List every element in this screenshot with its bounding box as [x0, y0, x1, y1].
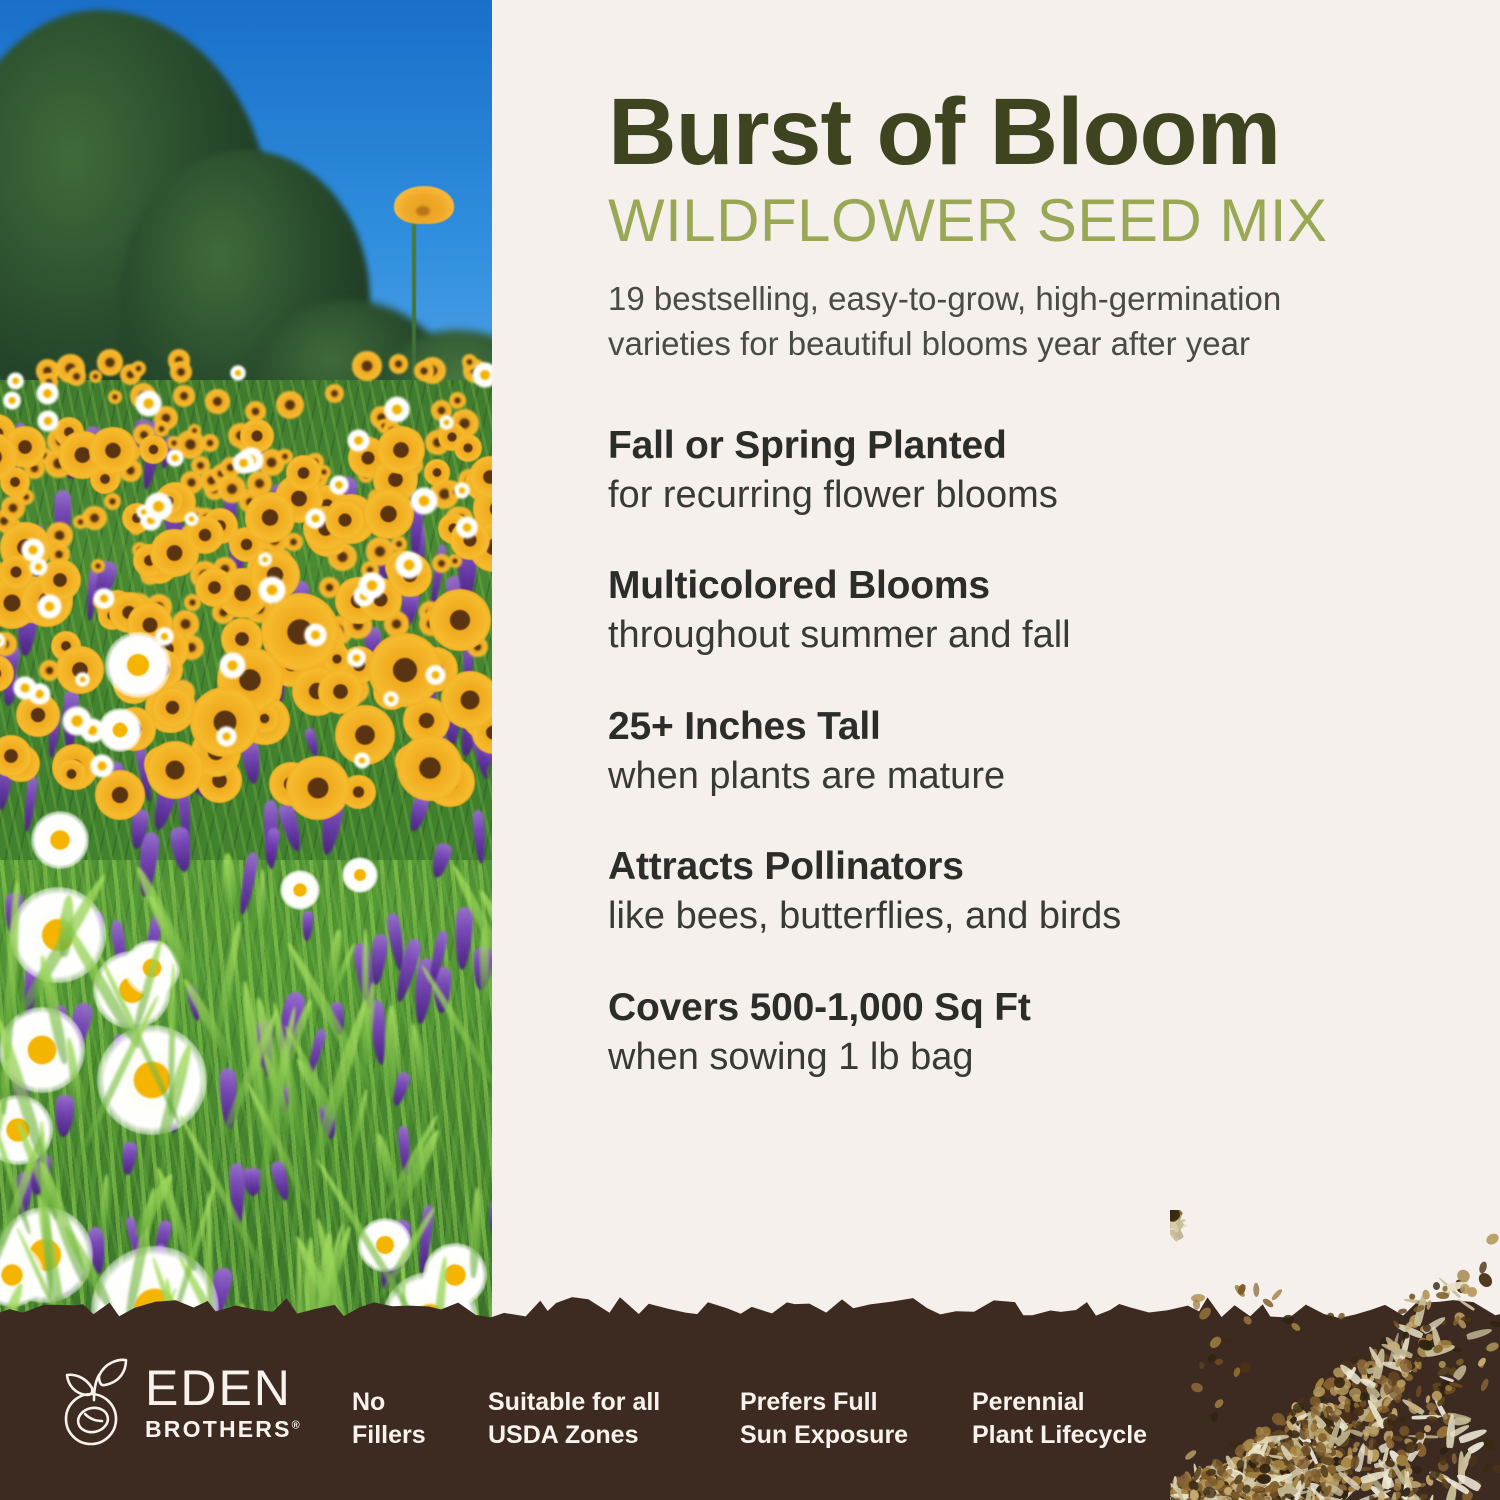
meadow-flower	[7, 372, 25, 390]
foliage-blade	[238, 980, 274, 1162]
seed	[1170, 1210, 1183, 1222]
meadow-flower	[197, 508, 216, 527]
purple-salvia	[304, 1028, 327, 1077]
foliage-blade	[283, 1024, 339, 1117]
meadow-flower	[21, 575, 73, 627]
meadow-flower	[483, 540, 492, 567]
meadow-flower	[280, 870, 320, 910]
purple-salvia	[1, 645, 20, 687]
meadow-flower	[329, 475, 350, 496]
meadow-flower	[269, 659, 288, 678]
purple-salvia	[374, 541, 395, 582]
foliage-blade	[479, 926, 489, 1005]
meadow-flower	[245, 401, 266, 422]
feature-subtitle: throughout summer and fall	[608, 612, 1468, 660]
meadow-flower	[308, 608, 328, 628]
meadow-flower	[156, 630, 179, 653]
purple-salvia	[110, 919, 130, 985]
purple-salvia	[318, 1104, 338, 1141]
purple-salvia	[432, 715, 453, 775]
meadow-flower	[0, 1207, 93, 1303]
foliage-blade	[324, 928, 343, 989]
meadow-flower	[400, 453, 423, 476]
meadow-flower	[450, 520, 490, 560]
purple-salvia	[137, 626, 161, 688]
meadow-flower	[241, 666, 269, 694]
meadow-flower	[448, 616, 476, 644]
foliage-blade	[327, 943, 357, 1002]
purple-salvia	[273, 992, 305, 1051]
purple-salvia	[330, 1001, 346, 1035]
foliage-blade	[131, 939, 164, 1032]
meadow-flower	[377, 426, 425, 474]
meadow-flower	[325, 500, 365, 540]
meadow-flower	[123, 444, 141, 462]
meadow-flower	[391, 536, 407, 552]
meadow-flower	[146, 594, 172, 620]
brand-name-secondary: BROTHERS®	[145, 1418, 302, 1441]
meadow-flower	[384, 396, 410, 422]
purple-salvia	[399, 589, 421, 627]
meadow-flower	[239, 436, 259, 456]
meadow-flower	[0, 655, 14, 693]
meadow-flower	[39, 559, 81, 601]
meadow-flower	[200, 469, 223, 492]
meadow-flower	[347, 648, 366, 667]
meadow-flower	[363, 489, 413, 539]
meadow-flower	[225, 527, 241, 543]
meadow-flower	[7, 576, 54, 623]
meadow-flower	[202, 508, 238, 544]
purple-salvia	[1, 672, 19, 706]
purple-salvia	[292, 581, 309, 636]
seed	[1170, 1210, 1184, 1215]
purple-salvia	[82, 424, 114, 494]
meadow-flower	[286, 455, 321, 490]
purple-salvia	[27, 1151, 53, 1196]
meadow-flower	[282, 610, 300, 628]
flower-layer	[0, 370, 492, 1345]
meadow-flower	[425, 430, 450, 455]
meadow-flower	[97, 1025, 207, 1135]
meadow-flower	[441, 671, 492, 729]
meadow-flower	[95, 770, 145, 820]
purple-salvia	[241, 739, 263, 785]
meadow-flower	[240, 419, 274, 453]
purple-salvia	[317, 792, 346, 857]
meadow-flower	[439, 415, 454, 430]
meadow-flower	[319, 577, 340, 598]
meadow-flower	[127, 602, 173, 648]
purple-salvia	[247, 432, 269, 462]
meadow-flower	[37, 595, 55, 613]
purple-salvia	[86, 911, 105, 951]
meadow-flower	[0, 555, 33, 589]
meadow-flower	[24, 458, 45, 479]
meadow-flower	[303, 506, 347, 550]
meadow-flower	[173, 385, 195, 407]
meadow-flower	[413, 647, 458, 692]
feature-item: Multicolored Blooms throughout summer an…	[608, 563, 1468, 660]
seed	[1170, 1210, 1174, 1222]
seed	[1170, 1210, 1185, 1240]
meadow-flower	[146, 741, 204, 799]
meadow-flower	[449, 392, 466, 409]
meadow-flower	[141, 567, 159, 585]
purple-salvia	[297, 599, 316, 647]
meadow-flower	[37, 448, 52, 463]
meadow-flower	[177, 529, 204, 556]
footer-badges: No Fillers Suitable for all USDA Zones P…	[352, 1386, 1222, 1452]
meadow-flower	[228, 423, 253, 448]
brand-name-primary: EDEN	[145, 1363, 302, 1413]
meadow-flower	[241, 489, 254, 502]
meadow-flower	[154, 406, 178, 430]
purple-salvia	[171, 525, 199, 563]
meadow-flower	[186, 516, 224, 554]
meadow-flower	[478, 483, 492, 512]
purple-salvia	[429, 841, 453, 879]
seed	[1441, 1279, 1469, 1294]
foliage-blade	[221, 853, 238, 914]
seed	[1170, 1211, 1180, 1225]
purple-salvia	[443, 574, 478, 642]
meadow-flower	[361, 561, 379, 579]
meadow-flower	[240, 696, 290, 746]
seed	[1170, 1212, 1173, 1220]
meadow-flower	[167, 436, 181, 450]
meadow-flower	[144, 492, 173, 521]
meadow-flower	[235, 708, 267, 740]
meadow-flower	[273, 549, 291, 567]
meadow-flower	[272, 627, 286, 641]
meadow-flower	[355, 437, 382, 464]
purple-salvia	[61, 688, 78, 751]
foliage-blade	[2, 881, 22, 1060]
badge-no-fillers: No Fillers	[352, 1386, 488, 1452]
foliage-blade	[469, 1187, 482, 1278]
meadow-flower	[472, 711, 492, 753]
purple-salvia	[186, 756, 212, 799]
meadow-flower	[318, 669, 363, 714]
seed	[1170, 1210, 1175, 1218]
purple-salvia	[139, 421, 165, 491]
meadow-flower	[152, 687, 193, 728]
meadow-flower	[119, 459, 141, 481]
torn-soil-edge	[0, 1294, 1500, 1328]
meadow-flower	[98, 708, 142, 752]
purple-salvia	[375, 1220, 411, 1291]
meadow-flower	[139, 435, 169, 465]
purple-salvia	[411, 957, 434, 1025]
purple-salvia	[22, 965, 37, 1018]
seed	[1170, 1210, 1176, 1218]
meadow-flower	[133, 544, 166, 577]
meadow-flower	[456, 516, 478, 538]
meadow-flower	[0, 632, 7, 654]
meadow-flower	[438, 513, 469, 544]
purple-salvia	[0, 759, 14, 810]
meadow-flower	[172, 610, 199, 637]
meadow-flower	[82, 506, 107, 531]
seed	[1170, 1210, 1182, 1217]
seed	[1172, 1210, 1180, 1220]
purple-salvia	[219, 1068, 238, 1130]
meadow-flower	[258, 552, 273, 567]
meadow-flower	[287, 479, 307, 499]
meadow-flower	[419, 612, 443, 636]
foliage-blade	[252, 996, 291, 1133]
sprouting-seed-icon	[55, 1356, 131, 1448]
meadow-flower	[373, 542, 389, 558]
meadow-flower	[201, 434, 219, 452]
meadow-flower	[389, 658, 416, 685]
meadow-flower	[18, 489, 34, 505]
meadow-flower	[36, 382, 59, 405]
meadow-flower	[383, 421, 402, 440]
purple-salvia	[46, 707, 62, 757]
meadow-flower	[135, 390, 162, 417]
purple-salvia	[158, 493, 189, 560]
meadow-flower	[4, 426, 45, 467]
purple-salvia	[158, 436, 177, 470]
meadow-flower	[275, 474, 323, 522]
meadow-flower	[347, 429, 370, 452]
purple-salvia	[363, 627, 384, 669]
foliage-blade	[410, 1023, 429, 1096]
purple-salvia	[33, 525, 45, 589]
brand-logo[interactable]: EDEN BROTHERS®	[55, 1356, 302, 1448]
seed	[1170, 1210, 1177, 1220]
meadow-flower	[446, 481, 461, 496]
seed	[1170, 1210, 1182, 1216]
meadow-flower	[465, 465, 492, 501]
purple-salvia	[392, 937, 424, 1004]
meadow-flower	[317, 465, 331, 479]
meadow-flower	[427, 604, 442, 619]
purple-salvia	[397, 1126, 411, 1176]
purple-salvia	[301, 911, 314, 941]
foliage-blade	[99, 1174, 110, 1236]
foliage-blade	[56, 913, 143, 1050]
foliage-blade	[37, 954, 71, 1065]
meadow-flower	[0, 663, 11, 683]
meadow-flower	[307, 468, 327, 488]
foliage-blade	[177, 1114, 270, 1280]
meadow-flower	[217, 647, 283, 713]
foliage-blade	[378, 1206, 438, 1299]
meadow-flower	[454, 482, 471, 499]
product-infographic: Burst of Bloom WILDFLOWER SEED MIX 19 be…	[0, 0, 1500, 1500]
purple-salvia	[57, 1266, 72, 1296]
purple-salvia	[433, 967, 452, 1013]
foliage-blade	[257, 869, 266, 937]
meadow-flower	[2, 518, 21, 537]
foliage-blade	[294, 1056, 340, 1123]
purple-salvia	[475, 741, 492, 771]
meadow-flower	[73, 515, 87, 529]
meadow-flower	[419, 601, 441, 623]
meadow-flower	[397, 735, 463, 801]
purple-salvia	[457, 534, 477, 600]
meadow-flower	[282, 606, 304, 628]
meadow-flower	[90, 464, 120, 494]
purple-salvia	[406, 793, 431, 833]
seed	[1453, 1278, 1467, 1295]
meadow-flower	[8, 480, 27, 499]
purple-salvia	[270, 1160, 293, 1202]
meadow-flower	[247, 550, 283, 586]
seed	[1485, 1231, 1500, 1246]
seed	[1170, 1212, 1184, 1231]
meadow-flower	[155, 482, 196, 523]
purple-salvia	[325, 474, 359, 536]
meadow-flower	[470, 523, 493, 546]
meadow-flower	[0, 632, 17, 657]
purple-salvia	[469, 725, 491, 780]
meadow-flower	[449, 600, 475, 626]
meadow-flower	[197, 758, 242, 803]
meadow-flower	[108, 390, 122, 404]
purple-salvia	[273, 639, 286, 705]
meadow-flower	[188, 507, 207, 526]
meadow-flower	[212, 601, 235, 624]
seed	[1170, 1210, 1182, 1219]
meadow-flower	[2, 745, 40, 783]
purple-salvia	[426, 929, 450, 988]
meadow-flower	[250, 550, 300, 600]
purple-salvia	[4, 893, 23, 934]
meadow-flower	[155, 487, 183, 515]
purple-salvia	[148, 420, 163, 452]
foliage-blade	[244, 1081, 311, 1209]
meadow-flower	[195, 568, 235, 608]
foliage-blade	[449, 863, 492, 997]
feature-title: Attracts Pollinators	[608, 844, 1468, 890]
purple-salvia	[462, 637, 474, 694]
seed	[1170, 1222, 1188, 1231]
meadow-flower	[306, 453, 323, 470]
meadow-flower	[190, 561, 219, 590]
meadow-flower	[62, 706, 92, 736]
meadow-flower	[424, 459, 451, 486]
meadow-flower	[340, 646, 378, 684]
meadow-flower	[109, 592, 149, 632]
meadow-flower	[46, 522, 73, 549]
meadow-flower	[276, 391, 304, 419]
meadow-flower	[244, 594, 274, 624]
meadow-flower	[91, 559, 105, 573]
meadow-flower	[124, 940, 180, 996]
purple-salvia	[390, 1071, 411, 1108]
meadow-flower	[169, 682, 190, 703]
meadow-flower	[48, 540, 65, 557]
purple-salvia	[13, 1171, 33, 1216]
seed	[1478, 1261, 1488, 1274]
meadow-flower	[190, 687, 260, 757]
meadow-flower	[323, 645, 351, 673]
seed	[1170, 1210, 1178, 1225]
meadow-flower	[407, 431, 421, 445]
meadow-flower	[0, 414, 16, 453]
meadow-flower	[0, 735, 32, 777]
feature-title: Covers 500-1,000 Sq Ft	[608, 985, 1468, 1031]
purple-salvia	[392, 1220, 412, 1270]
meadow-flower	[129, 520, 143, 534]
feature-title: Multicolored Blooms	[608, 563, 1468, 609]
meadow-flower	[29, 558, 48, 577]
meadow-flower	[261, 526, 289, 554]
meadow-flower	[382, 488, 408, 514]
meadow-flower	[221, 618, 263, 660]
meadow-flower	[97, 600, 115, 618]
meadow-flower	[448, 554, 462, 568]
meadow-flower	[135, 648, 181, 694]
seed	[1170, 1214, 1181, 1233]
meadow-flower	[48, 544, 69, 565]
meadow-flower	[441, 617, 459, 635]
foliage-blade	[14, 1120, 60, 1220]
meadow-flower	[229, 527, 264, 562]
meadow-flower	[0, 1007, 85, 1093]
purple-salvia	[11, 1056, 32, 1126]
meadow-flower	[93, 951, 171, 1029]
meadow-flower	[358, 467, 374, 483]
meadow-flower	[1, 496, 25, 520]
feature-title: Fall or Spring Planted	[608, 423, 1468, 469]
foliage-blade	[0, 1131, 47, 1271]
seed	[1170, 1210, 1181, 1220]
seed	[1170, 1212, 1179, 1242]
meadow-flower	[105, 632, 171, 698]
seed	[1170, 1210, 1174, 1218]
meadow-flower	[342, 857, 378, 893]
meadow-flower	[124, 593, 151, 620]
tall-orange-bloom	[394, 186, 454, 224]
meadow-flower	[232, 452, 254, 474]
foliage-blade	[131, 1172, 176, 1240]
meadow-flower	[266, 608, 290, 632]
meadow-flower	[454, 434, 482, 462]
purple-salvia	[227, 532, 247, 580]
meadow-flower	[205, 389, 229, 413]
foliage-blade	[78, 994, 162, 1156]
meadow-flower	[61, 442, 82, 463]
meadow-flower	[450, 409, 479, 438]
meadow-flower	[304, 623, 327, 646]
foliage-blade	[260, 1052, 296, 1132]
purple-salvia	[263, 827, 280, 865]
meadow-flower	[467, 598, 482, 613]
meadow-flower	[155, 627, 175, 647]
foliage-blade	[35, 1157, 91, 1284]
meadow-flower	[180, 523, 208, 551]
meadow-flower	[204, 479, 224, 499]
meadow-flower	[37, 410, 59, 432]
footer-bar: EDEN BROTHERS® No Fillers Suitable for a…	[0, 1328, 1500, 1500]
purple-salvia	[276, 991, 307, 1061]
meadow-flower	[238, 447, 263, 472]
foliage-blade	[180, 977, 235, 1064]
meadow-flower	[176, 430, 205, 459]
meadow-flower	[57, 759, 87, 789]
purple-salvia	[486, 1197, 492, 1238]
seed	[1170, 1210, 1173, 1220]
meadow-flower	[403, 697, 450, 744]
purple-salvia	[186, 984, 202, 1022]
meadow-flower	[56, 646, 104, 694]
meadow-flower	[410, 487, 438, 515]
